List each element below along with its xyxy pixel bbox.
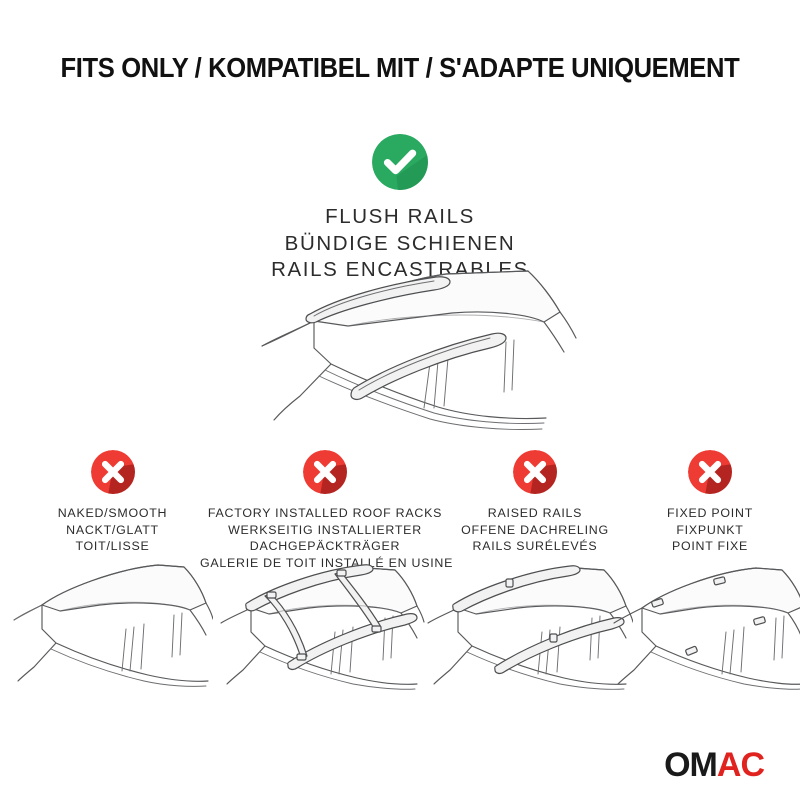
- car-roof-naked-smooth-illustration: [8, 553, 213, 688]
- hero-section: FLUSH RAILS BÜNDIGE SCHIENEN RAILS ENCAS…: [0, 134, 800, 284]
- car-roof-factory-racks-illustration: [205, 548, 445, 690]
- column-label-en: FIXED POINT: [620, 505, 800, 522]
- cross-circle-icon: [513, 450, 557, 494]
- column-fixed-point: FIXED POINT FIXPUNKT POINT FIXE: [620, 450, 800, 555]
- column-label-de: FIXPUNKT: [620, 522, 800, 539]
- cross-circle-icon: [91, 450, 135, 494]
- column-naked-smooth: NAKED/SMOOTH NACKT/GLATT TOIT/LISSE: [14, 450, 211, 555]
- fitment-infographic: FITS ONLY / KOMPATIBEL MIT / S'ADAPTE UN…: [0, 0, 800, 800]
- column-labels: FIXED POINT FIXPUNKT POINT FIXE: [620, 505, 800, 555]
- hero-label-de: BÜNDIGE SCHIENEN: [0, 231, 800, 258]
- column-label-de: NACKT/GLATT: [14, 522, 211, 539]
- column-labels: RAISED RAILS OFFENE DACHRELING RAILS SUR…: [440, 505, 630, 555]
- car-roof-fixed-point-illustration: [608, 552, 800, 690]
- column-label-de: OFFENE DACHRELING: [440, 522, 630, 539]
- page-title: FITS ONLY / KOMPATIBEL MIT / S'ADAPTE UN…: [61, 52, 740, 84]
- column-label-de-1: WERKSEITIG INSTALLIERTER: [200, 522, 450, 539]
- logo-text-dark: OM: [664, 746, 717, 784]
- car-roof-raised-rails-illustration: [418, 550, 633, 690]
- omac-logo: OMAC: [664, 748, 764, 782]
- car-roof-flush-rails-illustration: [228, 268, 580, 433]
- hero-label-en: FLUSH RAILS: [0, 204, 800, 231]
- logo-text-red: AC: [717, 746, 764, 784]
- column-label-en: RAISED RAILS: [440, 505, 630, 522]
- cross-circle-icon: [303, 450, 347, 494]
- column-labels: NAKED/SMOOTH NACKT/GLATT TOIT/LISSE: [14, 505, 211, 555]
- header: FITS ONLY / KOMPATIBEL MIT / S'ADAPTE UN…: [0, 52, 800, 84]
- column-label-en: FACTORY INSTALLED ROOF RACKS: [200, 505, 450, 522]
- column-label-en: NAKED/SMOOTH: [14, 505, 211, 522]
- cross-circle-icon: [688, 450, 732, 494]
- check-circle-icon: [372, 134, 428, 190]
- column-raised-rails: RAISED RAILS OFFENE DACHRELING RAILS SUR…: [440, 450, 630, 555]
